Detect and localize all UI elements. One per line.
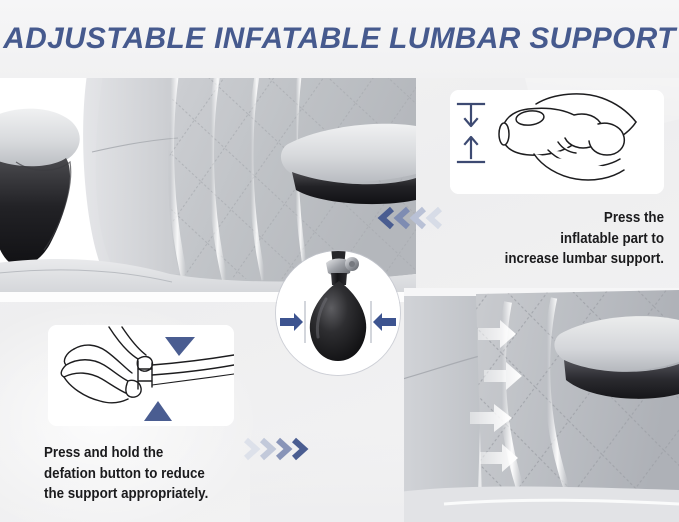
infographic-page: ADJUSTABLE INFATABLE LUMBAR SUPPORT bbox=[0, 0, 679, 522]
deflate-caption: Press and hold the defation button to re… bbox=[44, 443, 268, 505]
inflate-caption-line-2: inflatable part to bbox=[449, 229, 664, 250]
inflate-instruction-card bbox=[450, 90, 664, 194]
deflate-instruction-card bbox=[48, 325, 234, 426]
chevron-arrows-right bbox=[236, 434, 316, 469]
deflate-caption-line-3: the support appropriately. bbox=[44, 484, 268, 505]
page-title: ADJUSTABLE INFATABLE LUMBAR SUPPORT bbox=[0, 22, 679, 56]
chevron-arrows-left bbox=[374, 203, 454, 238]
pump-bulb-callout bbox=[276, 251, 400, 375]
chair-photo-bottom-right bbox=[404, 288, 679, 522]
inflate-caption-line-1: Press the bbox=[449, 208, 664, 229]
deflate-caption-line-2: defation button to reduce bbox=[44, 464, 268, 485]
inflate-caption: Press the inflatable part to increase lu… bbox=[449, 208, 664, 270]
deflate-caption-line-1: Press and hold the bbox=[44, 443, 268, 464]
inflate-caption-line-3: increase lumbar support. bbox=[449, 249, 664, 270]
